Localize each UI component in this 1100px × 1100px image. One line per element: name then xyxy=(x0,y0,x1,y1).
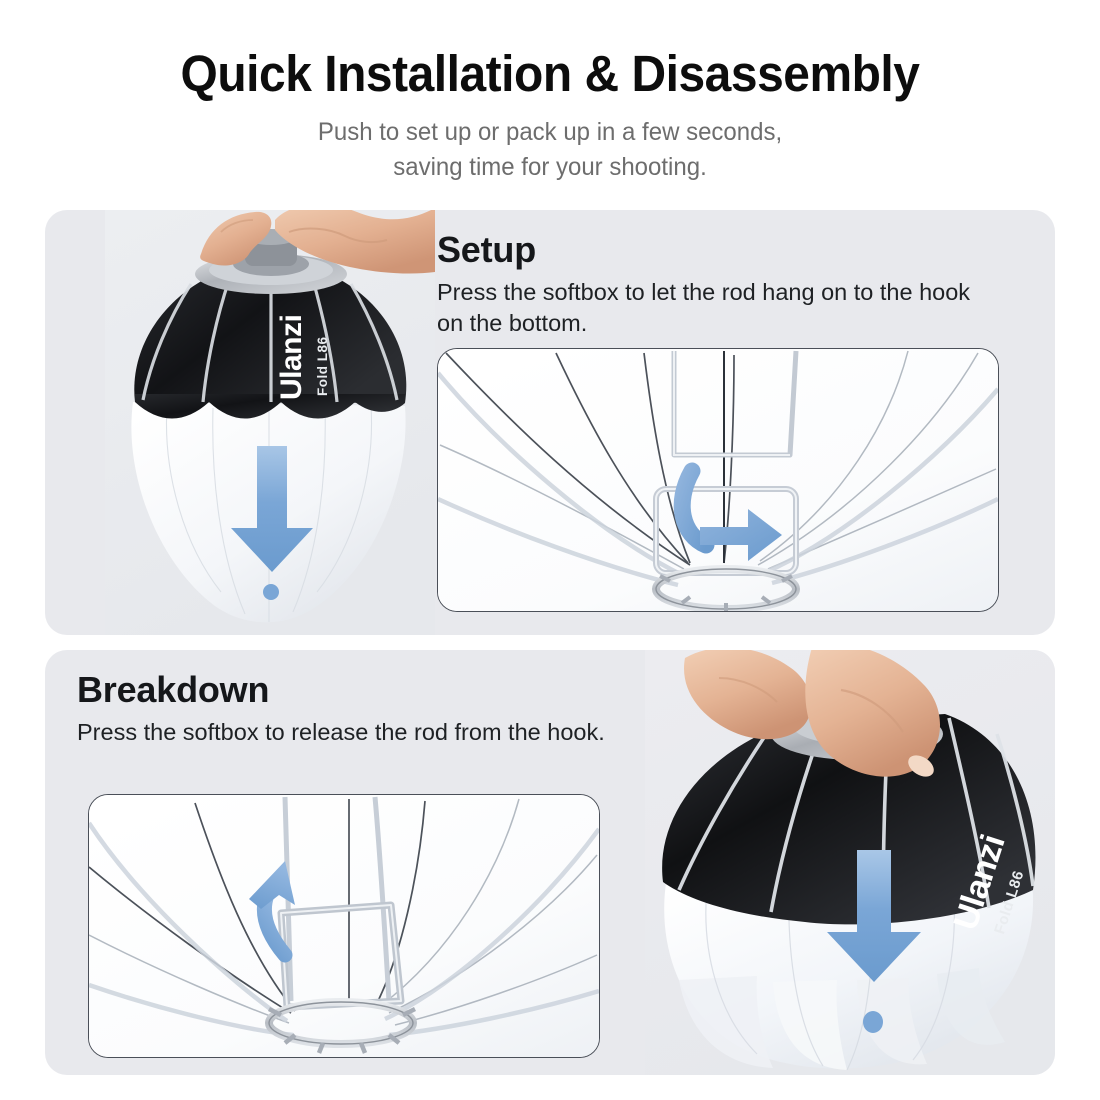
breakdown-photo-illustration: Ulanzi Fold L86 xyxy=(645,650,1055,1075)
breakdown-text-block: Breakdown Press the softbox to release t… xyxy=(77,670,622,748)
setup-heading: Setup xyxy=(437,230,982,270)
setup-diagram-panel xyxy=(437,348,999,612)
setup-frame-illustration xyxy=(438,349,998,611)
page-subtitle-line-2: saving time for your shooting. xyxy=(22,150,1078,185)
bottom-vent-dot xyxy=(863,1011,883,1033)
breakdown-diagram-panel xyxy=(88,794,600,1058)
setup-card: Ulanzi Fold L86 xyxy=(45,210,1055,635)
breakdown-heading: Breakdown xyxy=(77,670,622,710)
setup-description-line-1: Press the softbox to let the rod hang on xyxy=(437,279,847,305)
header: Quick Installation & Disassembly Push to… xyxy=(0,0,1100,184)
bottom-vent-dot xyxy=(263,584,279,600)
setup-photo-illustration: Ulanzi Fold L86 xyxy=(105,210,435,635)
breakdown-card: Breakdown Press the softbox to release t… xyxy=(45,650,1055,1075)
breakdown-frame-illustration xyxy=(89,795,599,1057)
breakdown-description: Press the softbox to release the rod fro… xyxy=(77,710,622,747)
breakdown-photo: Ulanzi Fold L86 xyxy=(645,650,1055,1075)
infographic-page: Quick Installation & Disassembly Push to… xyxy=(0,0,1100,1100)
page-subtitle-line-1: Push to set up or pack up in a few secon… xyxy=(22,115,1078,150)
breakdown-description-line-1: Press the softbox to release the rod fro… xyxy=(77,719,502,745)
setup-description: Press the softbox to let the rod hang on… xyxy=(437,270,982,338)
setup-photo: Ulanzi Fold L86 xyxy=(105,210,435,635)
brand-name: Ulanzi xyxy=(275,315,308,400)
page-title: Quick Installation & Disassembly xyxy=(33,0,1067,101)
breakdown-description-line-2: the hook. xyxy=(508,719,605,745)
brand-model: Fold L86 xyxy=(315,336,330,396)
page-subtitle: Push to set up or pack up in a few secon… xyxy=(22,101,1078,184)
setup-text-block: Setup Press the softbox to let the rod h… xyxy=(437,230,982,338)
